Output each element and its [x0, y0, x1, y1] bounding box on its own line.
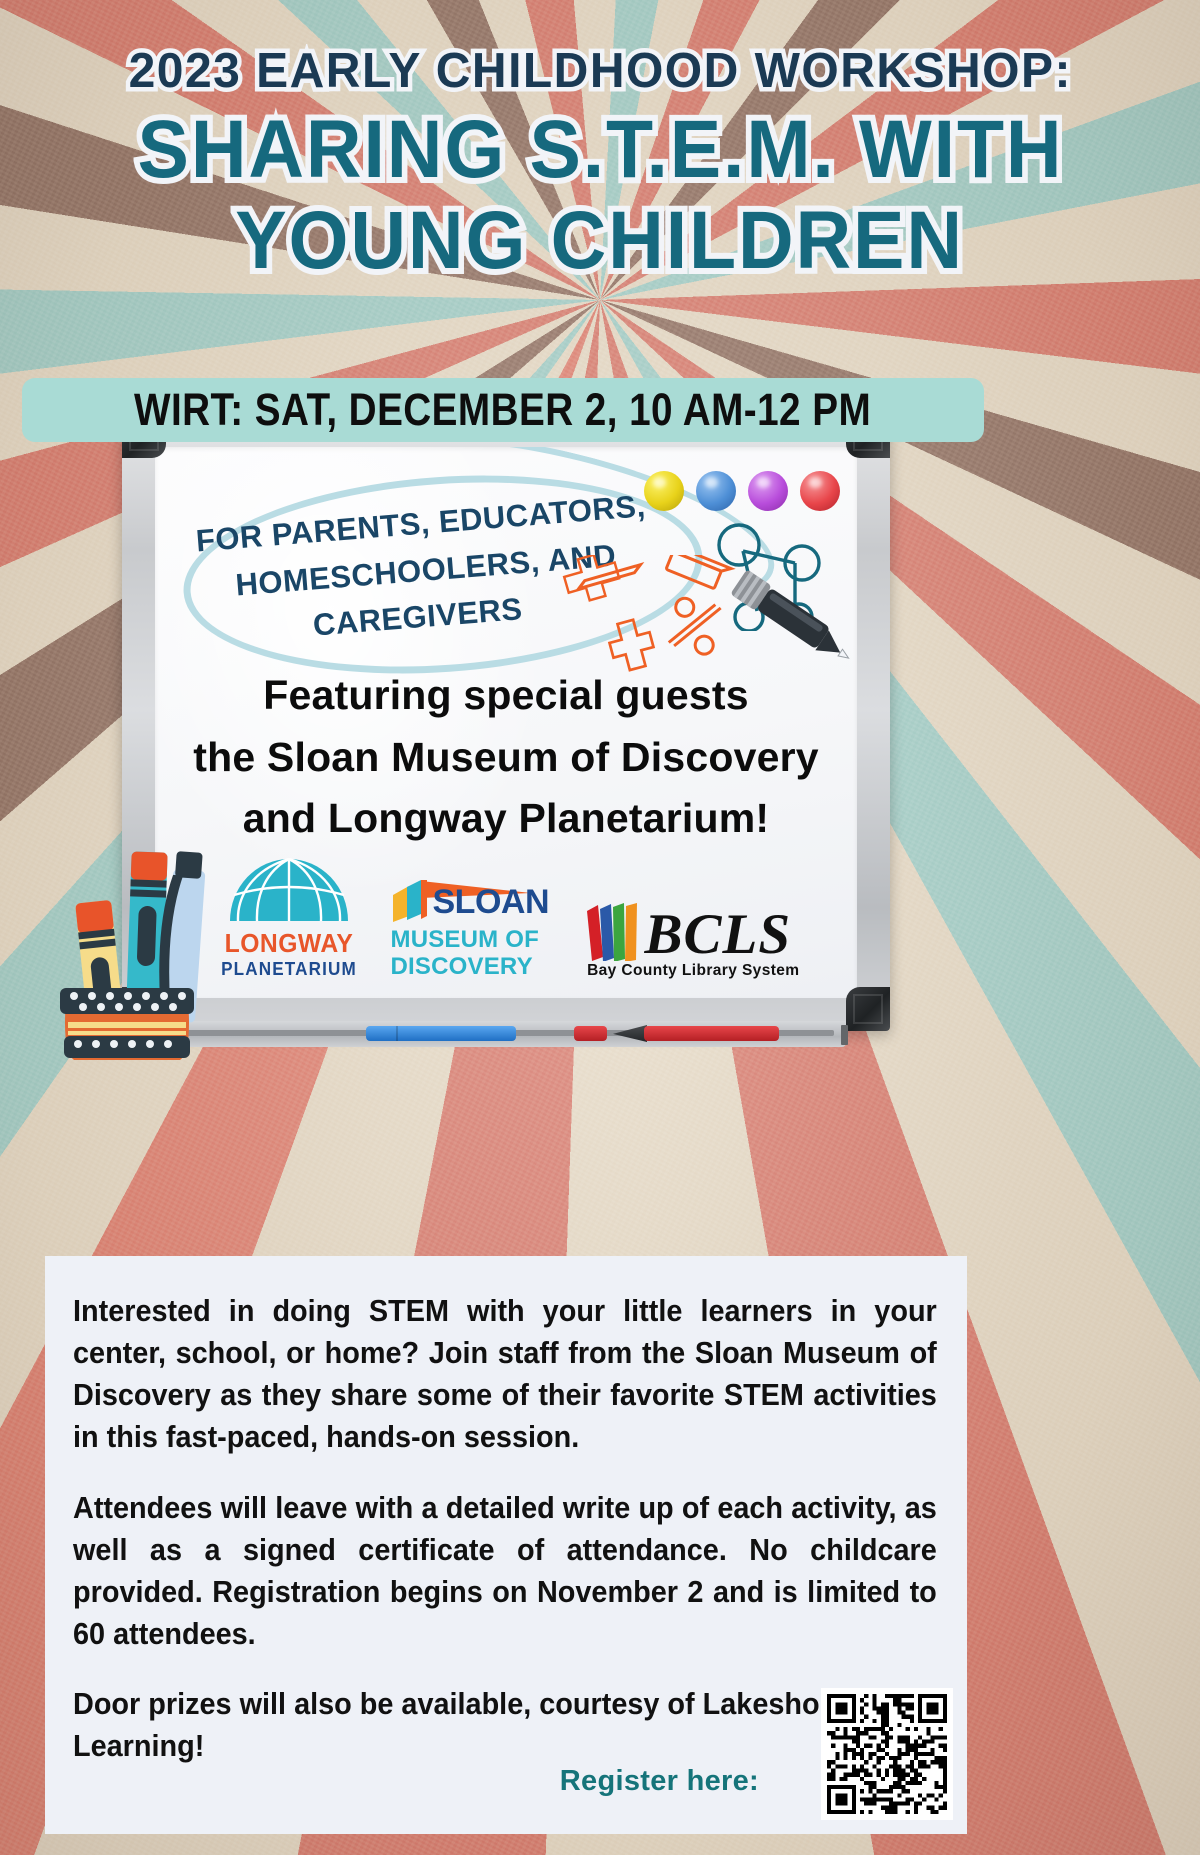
tray-clip-right [841, 1025, 848, 1045]
bcls-book-bars-icon [585, 903, 639, 961]
marker-tray [166, 1021, 846, 1047]
description-paragraph-1: Interested in doing STEM with your littl… [73, 1290, 937, 1459]
longway-name: LONGWAY [216, 928, 360, 959]
date-time-banner: WIRT: SAT, DECEMBER 2, 10 AM-12 PM [22, 378, 984, 442]
magnet-yellow [644, 471, 684, 511]
featuring-line-2: the Sloan Museum of Discovery [179, 727, 833, 789]
whiteboard: FOR PARENTS, EDUCATORS, HOMESCHOOLERS, A… [122, 414, 890, 1031]
sloan-line-3: DISCOVERY [391, 954, 559, 980]
bcls-subtitle: Bay County Library System [585, 962, 800, 980]
longway-subtitle: PLANETARIUM [216, 959, 360, 980]
title-line-1: 2023 EARLY CHILDHOOD WORKSHOP: [128, 46, 1071, 97]
magnet-blue [696, 471, 736, 511]
partner-logos: LONGWAY PLANETARIUM SLOAN MUSEUM OF [179, 855, 833, 980]
registration-qr-code[interactable] [821, 1688, 953, 1820]
description-paragraph-2: Attendees will leave with a detailed wri… [73, 1487, 937, 1656]
featuring-line-3: and Longway Planetarium! [179, 788, 833, 850]
magnet-red [800, 471, 840, 511]
featuring-text: Featuring special guests the Sloan Museu… [179, 665, 833, 850]
title-line-2: SHARING S.T.E.M. WITH [137, 107, 1063, 194]
whiteboard-surface: FOR PARENTS, EDUCATORS, HOMESCHOOLERS, A… [155, 447, 857, 998]
title-line-3: YOUNG CHILDREN [236, 198, 965, 285]
bcls-letters: BCLS [645, 909, 792, 961]
blue-marker [366, 1026, 516, 1041]
sloan-museum-logo: SLOAN MUSEUM OF DISCOVERY [391, 879, 559, 980]
qr-canvas[interactable] [827, 1694, 947, 1814]
poster-root: 2023 EARLY CHILDHOOD WORKSHOP: SHARING S… [0, 0, 1200, 1855]
poster-title: 2023 EARLY CHILDHOOD WORKSHOP: SHARING S… [0, 46, 1200, 285]
red-marker [644, 1026, 779, 1041]
red-marker-tip [613, 1025, 647, 1042]
description-paragraph-3: Door prizes will also be available, cour… [73, 1683, 937, 1767]
sloan-line-2: MUSEUM OF [391, 927, 559, 953]
math-symbol-doodles [559, 555, 749, 680]
description-panel: Interested in doing STEM with your littl… [45, 1256, 967, 1834]
pencil-cup-illustration [52, 700, 222, 1060]
magnet-row [644, 471, 840, 511]
register-here-label: Register here: [560, 1765, 759, 1798]
sloan-mark-icon: SLOAN [391, 879, 559, 925]
sloan-name: SLOAN [433, 883, 550, 922]
bcls-logo: BCLS Bay County Library System [585, 903, 800, 980]
date-time-text: WIRT: SAT, DECEMBER 2, 10 AM-12 PM [134, 384, 871, 436]
featuring-line-1: Featuring special guests [179, 665, 833, 727]
bcls-wordmark-row: BCLS [585, 903, 800, 961]
longway-planetarium-logo: LONGWAY PLANETARIUM [213, 855, 365, 980]
whiteboard-corner-bottom-right [846, 987, 890, 1031]
magnet-purple [748, 471, 788, 511]
planetarium-dome-icon [226, 855, 352, 923]
red-marker-cap [574, 1026, 607, 1041]
